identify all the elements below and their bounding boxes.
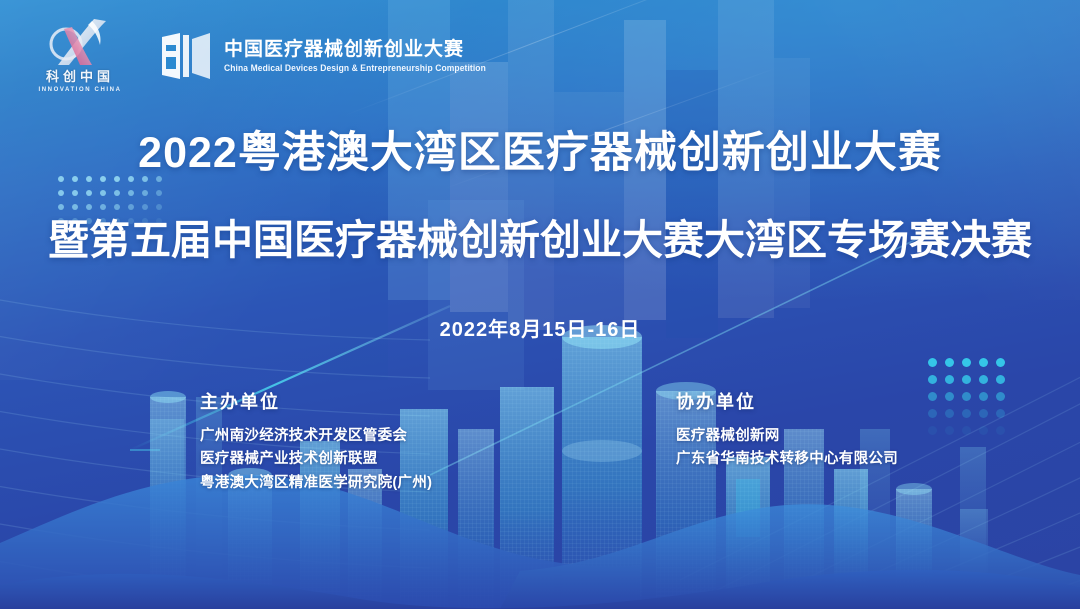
- open-door-icon: [160, 31, 214, 81]
- host-organizer-item: 粤港澳大湾区精准医学研究院(广州): [200, 472, 432, 495]
- co-organizer-item: 医疗器械创新网: [676, 425, 898, 448]
- dot-grid-right: [928, 358, 1013, 443]
- event-date: 2022年8月15日-16日: [0, 313, 1080, 342]
- china-medical-devices-competition-logo: 中国医疗器械创新创业大赛 China Medical Devices Desig…: [160, 31, 486, 81]
- host-organizer-item: 广州南沙经济技术开发区管委会: [200, 425, 432, 448]
- event-title-line-1: 2022粤港澳大湾区医疗器械创新创业大赛: [0, 130, 1080, 177]
- competition-logo-en: China Medical Devices Design & Entrepren…: [224, 62, 486, 74]
- co-organizer-block: 协办单位 医疗器械创新网 广东省华南技术转移中心有限公司: [676, 388, 898, 472]
- host-organizer-block: 主办单位 广州南沙经济技术开发区管委会 医疗器械产业技术创新联盟 粤港澳大湾区精…: [200, 388, 432, 495]
- host-organizer-item: 医疗器械产业技术创新联盟: [200, 448, 432, 471]
- kechuang-bird-icon: [42, 17, 116, 69]
- bottom-wave-graphic: [0, 459, 1080, 609]
- co-organizer-item: 广东省华南技术转移中心有限公司: [676, 448, 898, 471]
- event-title-line-2: 暨第五届中国医疗器械创新创业大赛大湾区专场赛决赛: [0, 218, 1080, 263]
- banner-header: 科创中国 INNOVATION CHINA 中国医疗器械创新创业大赛 China…: [0, 0, 1080, 112]
- kechuang-logo-cn: 科创中国: [34, 70, 126, 83]
- kechuang-zhongguo-logo: 科创中国 INNOVATION CHINA: [34, 17, 126, 95]
- co-organizer-heading: 协办单位: [676, 388, 898, 414]
- event-banner: 科创中国 INNOVATION CHINA 中国医疗器械创新创业大赛 China…: [0, 0, 1080, 609]
- host-organizer-heading: 主办单位: [200, 388, 432, 414]
- kechuang-logo-en: INNOVATION CHINA: [34, 87, 126, 93]
- competition-logo-cn: 中国医疗器械创新创业大赛: [224, 39, 486, 61]
